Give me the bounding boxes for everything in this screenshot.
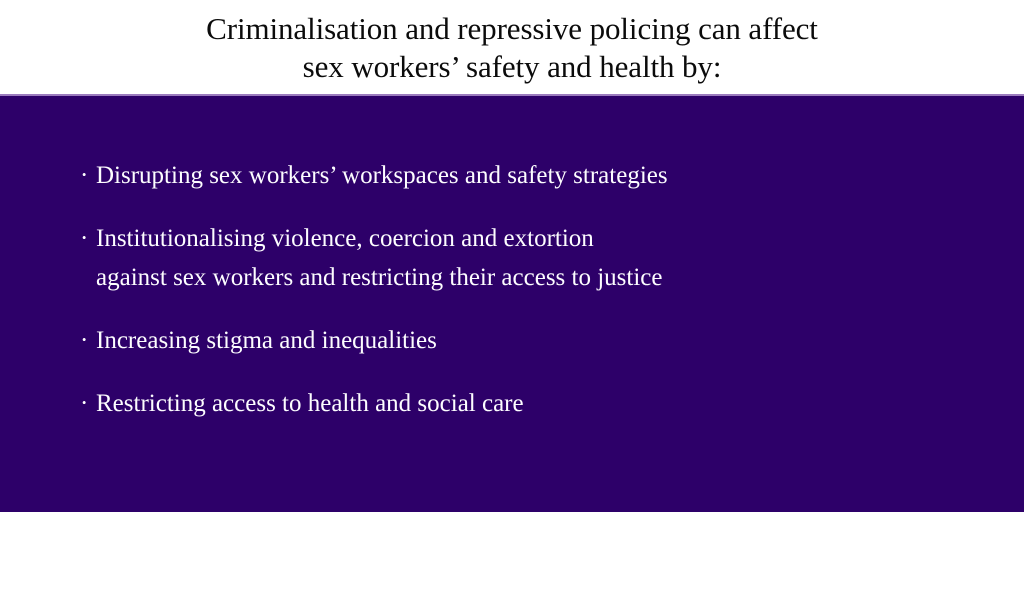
logo-line-tropical: &TROPICAL [868,572,951,586]
list-item: · Increasing stigma and inequalities [80,321,960,360]
list-item-text-main: Restricting access to health and social … [96,390,524,417]
lshtm-logo: LONDON SCHOOLof HYGIENE &TROPICAL MEDICI… [868,526,1016,602]
logo-line-hygiene: HYGIENE [868,558,933,572]
list-item-text-main: Disrupting sex workers’ workspaces and s… [96,162,668,189]
bullet-marker-icon: · [80,219,96,258]
lshtm-wordmark: LONDON SCHOOLof HYGIENE &TROPICAL MEDICI… [868,529,952,599]
bullet-list: · Disrupting sex workers’ workspaces and… [80,156,960,423]
slide: Criminalisation and repressive policing … [0,0,1024,512]
list-item: · Institutionalising violence, coercion … [80,219,960,297]
logo-word-of: of [927,545,936,557]
title-band: Criminalisation and repressive policing … [0,0,1024,94]
list-item-text: Institutionalising violence, coercion an… [96,219,960,297]
list-item: · Restricting access to health and socia… [80,384,960,423]
page-title-line-1: Criminalisation and repressive policing … [206,10,818,48]
list-item: · Disrupting sex workers’ workspaces and… [80,156,960,195]
list-item-text: Disrupting sex workers’ workspaces and s… [96,156,960,195]
list-item-text: Restricting access to health and social … [96,384,960,423]
list-item-text-continuation: against sex workers and restricting thei… [96,258,960,297]
content-panel: · Disrupting sex workers’ workspaces and… [0,96,1024,512]
logo-line-medicine: MEDICINE [868,585,940,599]
bullet-marker-icon: · [80,384,96,423]
bullet-marker-icon: · [80,321,96,360]
logo-word-school: SCHOOL [868,542,927,558]
list-item-text-main: Institutionalising violence, coercion an… [96,225,594,252]
page-title-line-2: sex workers’ safety and health by: [303,48,722,86]
list-item-text-main: Increasing stigma and inequalities [96,327,437,354]
bullet-marker-icon: · [80,156,96,195]
lshtm-crest-icon [957,536,1014,593]
list-item-text: Increasing stigma and inequalities [96,321,960,360]
logo-line-school-of: SCHOOLof [868,544,935,559]
